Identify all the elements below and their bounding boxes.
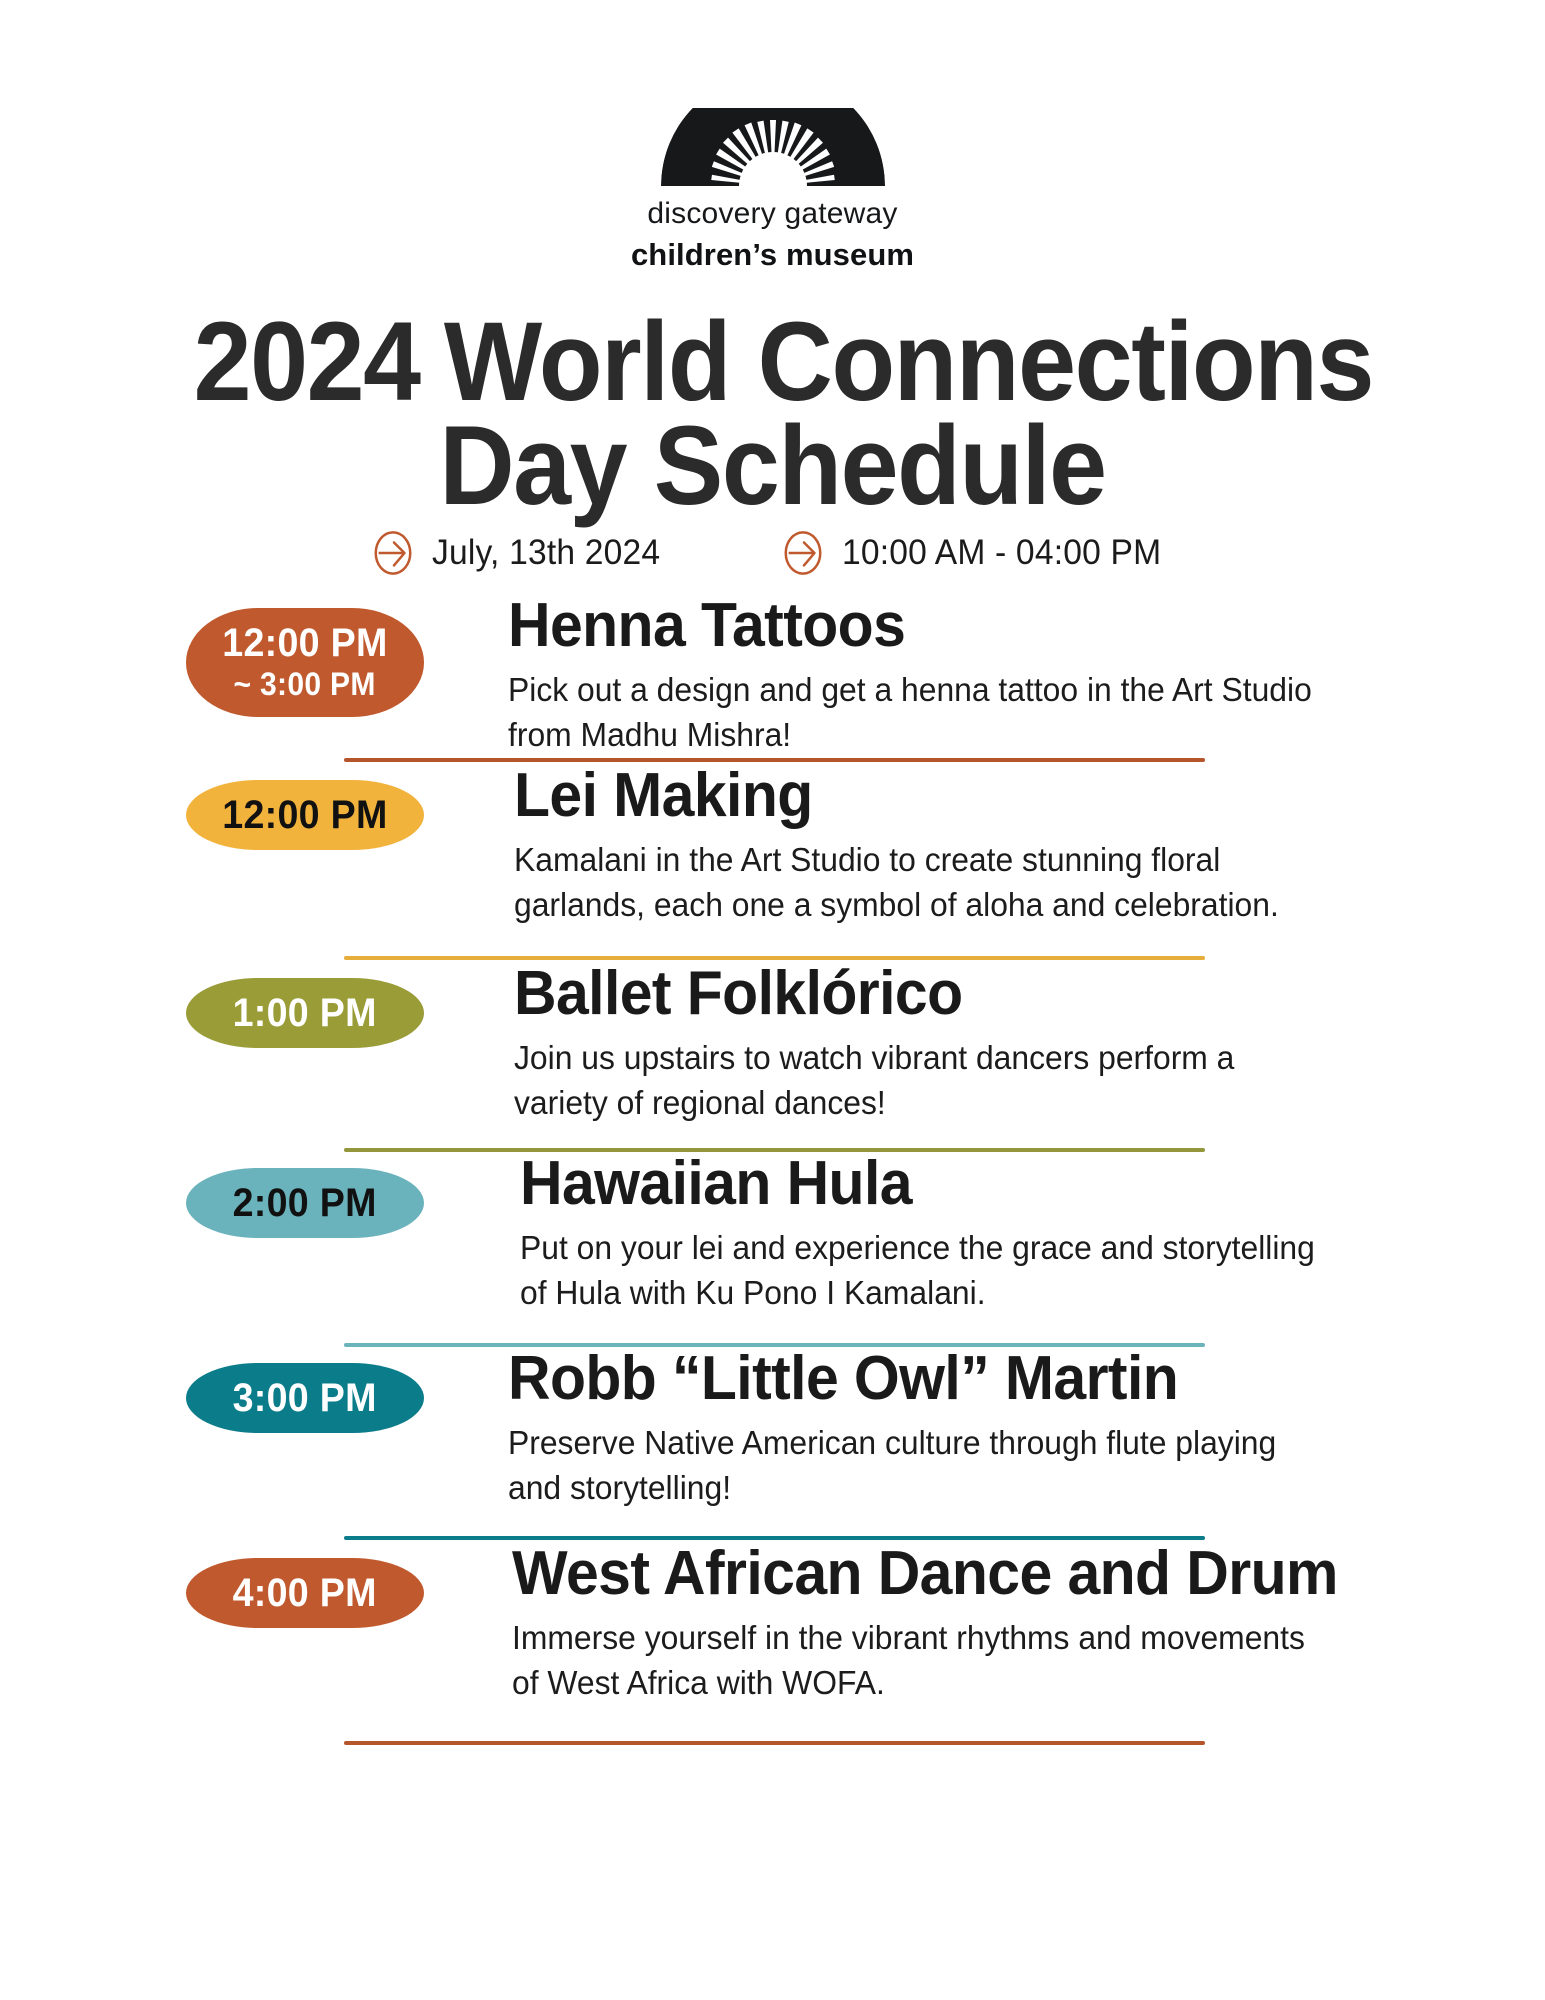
- event-description-line: Pick out a design and get a henna tattoo…: [508, 668, 1447, 713]
- event-title: Lei Making: [514, 764, 1433, 827]
- schedule-poster: discovery gateway children’s museum 2024…: [0, 0, 1545, 2000]
- event-meta-row: July, 13th 2024 10:00 AM - 04:00 PM: [0, 530, 1545, 576]
- arrow-right-circle-icon: [370, 530, 416, 576]
- event-title: Robb “Little Owl” Martin: [508, 1347, 1432, 1410]
- schedule-row: 2:00 PMHawaiian HulaPut on your lei and …: [0, 1168, 1545, 1316]
- event-content: Hawaiian HulaPut on your lei and experie…: [424, 1152, 1545, 1316]
- time-pill: 1:00 PM: [186, 978, 424, 1048]
- event-description-line: Immerse yourself in the vibrant rhythms …: [512, 1616, 1447, 1661]
- event-time: 10:00 AM - 04:00 PM: [780, 530, 1175, 576]
- logo-wordmark-secondary: children’s museum: [631, 237, 914, 273]
- event-description-line: Join us upstairs to watch vibrant dancer…: [514, 1036, 1447, 1081]
- event-description-line: of West Africa with WOFA.: [512, 1661, 1447, 1706]
- event-description: Pick out a design and get a henna tattoo…: [508, 668, 1447, 758]
- event-description-line: variety of regional dances!: [514, 1081, 1447, 1126]
- time-pill-primary: 1:00 PM: [233, 992, 377, 1034]
- time-pill-primary: 4:00 PM: [233, 1572, 377, 1614]
- event-description-line: Preserve Native American culture through…: [508, 1421, 1447, 1466]
- event-content: Ballet FolklóricoJoin us upstairs to wat…: [424, 962, 1545, 1126]
- row-divider: [344, 1741, 1205, 1745]
- event-content: Henna TattoosPick out a design and get a…: [424, 594, 1545, 758]
- page-title: 2024World Connections Day Schedule: [150, 310, 1395, 518]
- event-content: Robb “Little Owl” MartinPreserve Native …: [424, 1347, 1545, 1511]
- event-title: West African Dance and Drum: [512, 1542, 1433, 1605]
- schedule-row: 3:00 PMRobb “Little Owl” MartinPreserve …: [0, 1363, 1545, 1511]
- event-title: Henna Tattoos: [508, 594, 1432, 657]
- schedule-row: 4:00 PMWest African Dance and DrumImmers…: [0, 1558, 1545, 1706]
- title-line-2: Day Schedule: [194, 414, 1352, 518]
- schedule-row: 1:00 PMBallet FolklóricoJoin us upstairs…: [0, 978, 1545, 1126]
- schedule-row-inner: 1:00 PMBallet FolklóricoJoin us upstairs…: [0, 978, 1545, 1126]
- event-description-line: of Hula with Ku Pono I Kamalani.: [520, 1271, 1447, 1316]
- title-year: 2024: [194, 299, 420, 424]
- schedule-row-inner: 2:00 PMHawaiian HulaPut on your lei and …: [0, 1168, 1545, 1316]
- time-pill: 12:00 PM: [186, 780, 424, 850]
- event-description: Preserve Native American culture through…: [508, 1421, 1447, 1511]
- time-pill: 2:00 PM: [186, 1168, 424, 1238]
- schedule-row: 12:00 PMLei MakingKamalani in the Art St…: [0, 780, 1545, 928]
- event-title: Ballet Folklórico: [514, 962, 1433, 1025]
- event-description-line: from Madhu Mishra!: [508, 713, 1447, 758]
- time-pill-primary: 12:00 PM: [222, 622, 387, 664]
- time-pill-secondary: ~ 3:00 PM: [234, 666, 376, 703]
- event-description-line: garlands, each one a symbol of aloha and…: [514, 883, 1447, 928]
- event-time-label: 10:00 AM - 04:00 PM: [842, 533, 1161, 573]
- logo-wordmark-primary: discovery gateway: [647, 197, 897, 231]
- event-description: Join us upstairs to watch vibrant dancer…: [514, 1036, 1447, 1126]
- arrow-right-circle-icon: [780, 530, 826, 576]
- title-line-1: 2024World Connections: [194, 310, 1352, 414]
- time-pill-primary: 12:00 PM: [222, 794, 387, 836]
- brand-logo: discovery gateway children’s museum: [0, 108, 1545, 273]
- event-content: West African Dance and DrumImmerse yours…: [424, 1542, 1545, 1706]
- event-description: Kamalani in the Art Studio to create stu…: [514, 838, 1447, 928]
- event-description-line: Put on your lei and experience the grace…: [520, 1226, 1447, 1271]
- schedule-row-inner: 12:00 PM~ 3:00 PMHenna TattoosPick out a…: [0, 608, 1545, 758]
- event-date-label: July, 13th 2024: [432, 533, 660, 573]
- event-content: Lei MakingKamalani in the Art Studio to …: [424, 764, 1545, 928]
- event-description: Immerse yourself in the vibrant rhythms …: [512, 1616, 1447, 1706]
- event-description-line: Kamalani in the Art Studio to create stu…: [514, 838, 1447, 883]
- schedule-row-inner: 3:00 PMRobb “Little Owl” MartinPreserve …: [0, 1363, 1545, 1511]
- time-pill: 3:00 PM: [186, 1363, 424, 1433]
- time-pill: 12:00 PM~ 3:00 PM: [186, 608, 424, 717]
- schedule-row-inner: 12:00 PMLei MakingKamalani in the Art St…: [0, 780, 1545, 928]
- time-pill-primary: 3:00 PM: [233, 1377, 377, 1419]
- half-sun-rays-icon: [657, 108, 889, 188]
- time-pill-primary: 2:00 PM: [233, 1182, 377, 1224]
- schedule-row: 12:00 PM~ 3:00 PMHenna TattoosPick out a…: [0, 608, 1545, 758]
- time-pill: 4:00 PM: [186, 1558, 424, 1628]
- schedule-row-inner: 4:00 PMWest African Dance and DrumImmers…: [0, 1558, 1545, 1706]
- event-description: Put on your lei and experience the grace…: [520, 1226, 1447, 1316]
- event-date: July, 13th 2024: [370, 530, 670, 576]
- event-title: Hawaiian Hula: [520, 1152, 1433, 1215]
- event-description-line: and storytelling!: [508, 1466, 1447, 1511]
